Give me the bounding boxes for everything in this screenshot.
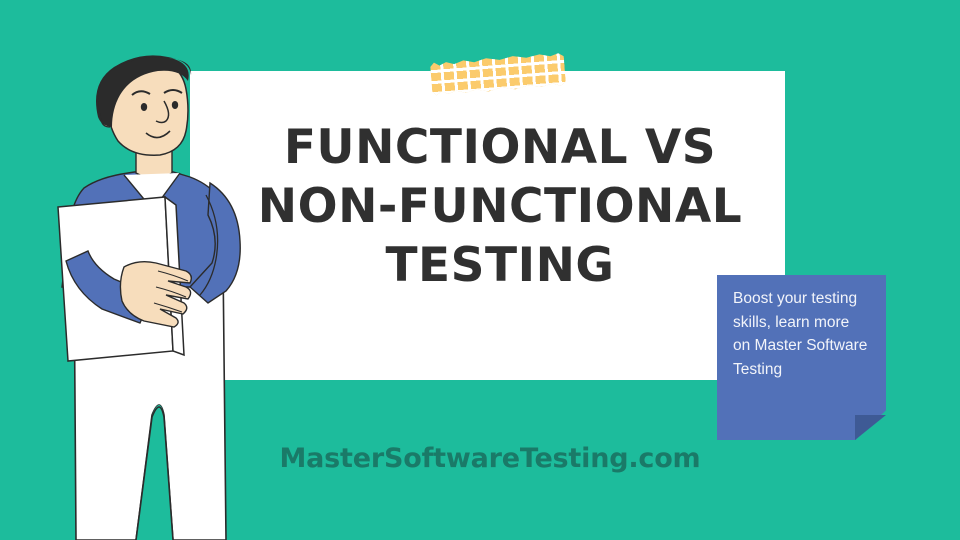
slide-canvas: FUNCTIONAL VS NON-FUNCTIONAL TESTING Boo… (0, 0, 960, 540)
footer-website: MasterSoftwareTesting.com (0, 443, 960, 474)
title-line-3: TESTING (250, 236, 750, 295)
page-title: FUNCTIONAL VS NON-FUNCTIONAL TESTING (250, 118, 750, 295)
callout-text: Boost your testing skills, learn more on… (733, 287, 869, 381)
callout-fold-corner (855, 415, 886, 440)
title-line-2: NON-FUNCTIONAL (250, 177, 750, 236)
title-line-1: FUNCTIONAL VS (250, 118, 750, 177)
